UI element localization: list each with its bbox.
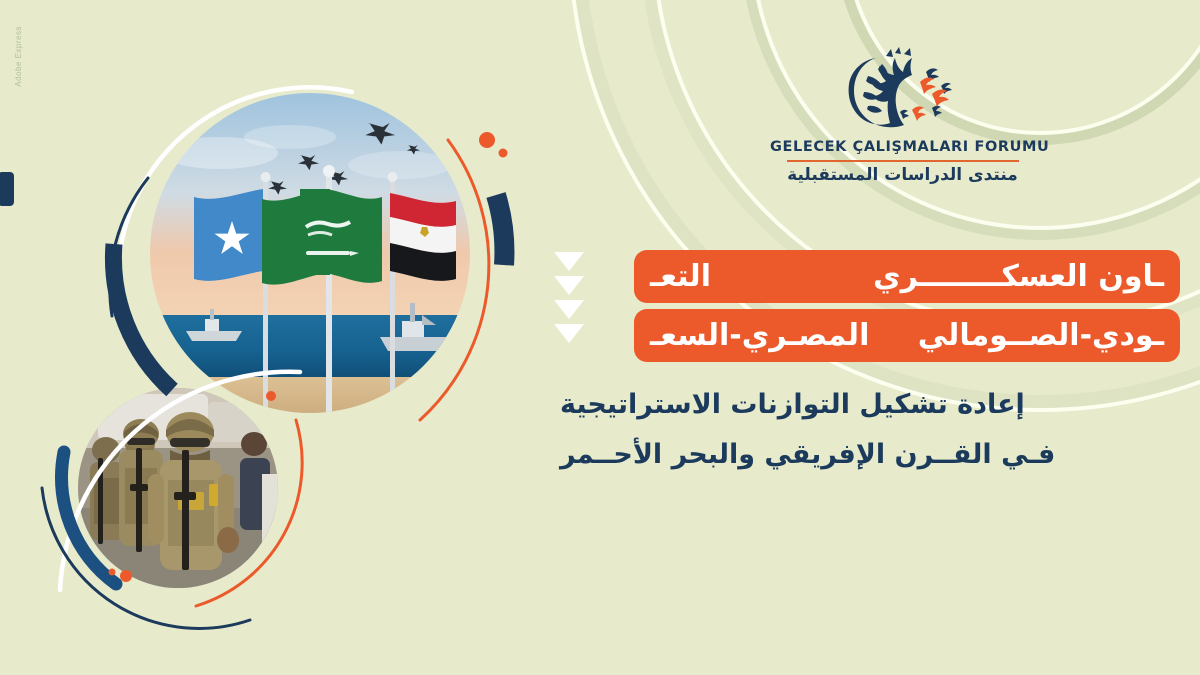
- navy-arc-thin-left: [110, 178, 148, 316]
- logo-latin-name: GELECEK ÇALIŞMALARI FORUMU: [770, 140, 1035, 156]
- orange-dot-large: [479, 132, 495, 148]
- three-flags-photo: [150, 93, 470, 413]
- forum-logo[interactable]: GELECEK ÇALIŞMALARI FORUMU منتدى الدراسا…: [770, 46, 1035, 185]
- civilian-figure: [240, 432, 278, 544]
- logo-divider: [787, 160, 1019, 162]
- poster-text-content: ـاون العسكــــــــري التعـ ـودي-الصــوما…: [560, 250, 1180, 476]
- subtitle-block: إعادة تشكيل التوازنات الاستراتيجية فـي ا…: [560, 384, 1180, 476]
- title-bar-secondary: ـودي-الصــومالي المصـري-السعـ: [634, 309, 1180, 362]
- flag-somalia: [194, 189, 263, 281]
- title-bar-primary-lead: التعـ: [650, 259, 711, 294]
- logo-arabic-name: منتدى الدراسات المستقبلية: [770, 165, 1035, 185]
- chevron-down-icon: [554, 324, 584, 343]
- flag-egypt: [390, 193, 456, 281]
- subtitle-line-1: إعادة تشكيل التوازنات الاستراتيجية: [560, 384, 1180, 426]
- flags-illustration: [150, 93, 470, 413]
- chevron-down-icon: [554, 252, 584, 271]
- poster-canvas: Adobe Express: [0, 0, 1200, 675]
- chevron-down-icon: [554, 276, 584, 295]
- title-bar-primary-tail: ـاون العسكــــــــري: [873, 259, 1164, 294]
- soldiers-photo: [78, 388, 278, 588]
- soldiers-illustration: [78, 388, 278, 588]
- title-bars: ـاون العسكــــــــري التعـ ـودي-الصــوما…: [560, 250, 1180, 362]
- soldier-back-1: [90, 437, 124, 540]
- orange-dot-small: [499, 149, 508, 158]
- orange-dot-bottom-small: [109, 569, 116, 576]
- flag-saudi-arabia: [262, 189, 382, 285]
- thinker-head-with-birds-icon: [838, 46, 968, 134]
- title-bar-secondary-lead: المصـري-السعـ: [650, 318, 869, 353]
- navy-arc-segment-right: [496, 195, 504, 265]
- title-bar-primary: ـاون العسكــــــــري التعـ: [634, 250, 1180, 303]
- title-bar-secondary-tail: ـودي-الصــومالي: [918, 318, 1164, 353]
- navy-tab-left: [0, 172, 14, 206]
- subtitle-line-2: فـي القــرن الإفريقي والبحر الأحــمر: [560, 434, 1180, 476]
- watermark-text: Adobe Express: [14, 26, 23, 87]
- chevron-down-icon: [554, 300, 584, 319]
- chevron-column: [554, 252, 584, 343]
